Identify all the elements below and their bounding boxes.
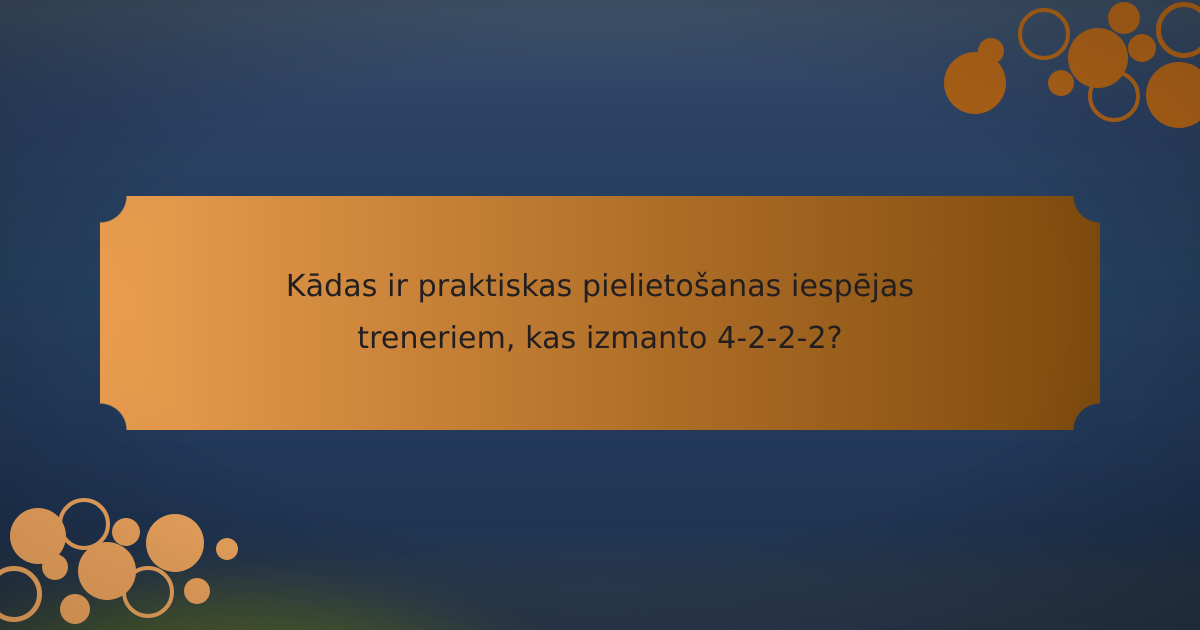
quote-card: Kādas ir praktiskas pielietošanas iespēj… [100, 196, 1100, 430]
social-quote-card-image: Kādas ir praktiskas pielietošanas iespēj… [0, 0, 1200, 630]
quote-text: Kādas ir praktiskas pielietošanas iespēj… [240, 261, 960, 364]
photo-hill-left [0, 555, 676, 630]
